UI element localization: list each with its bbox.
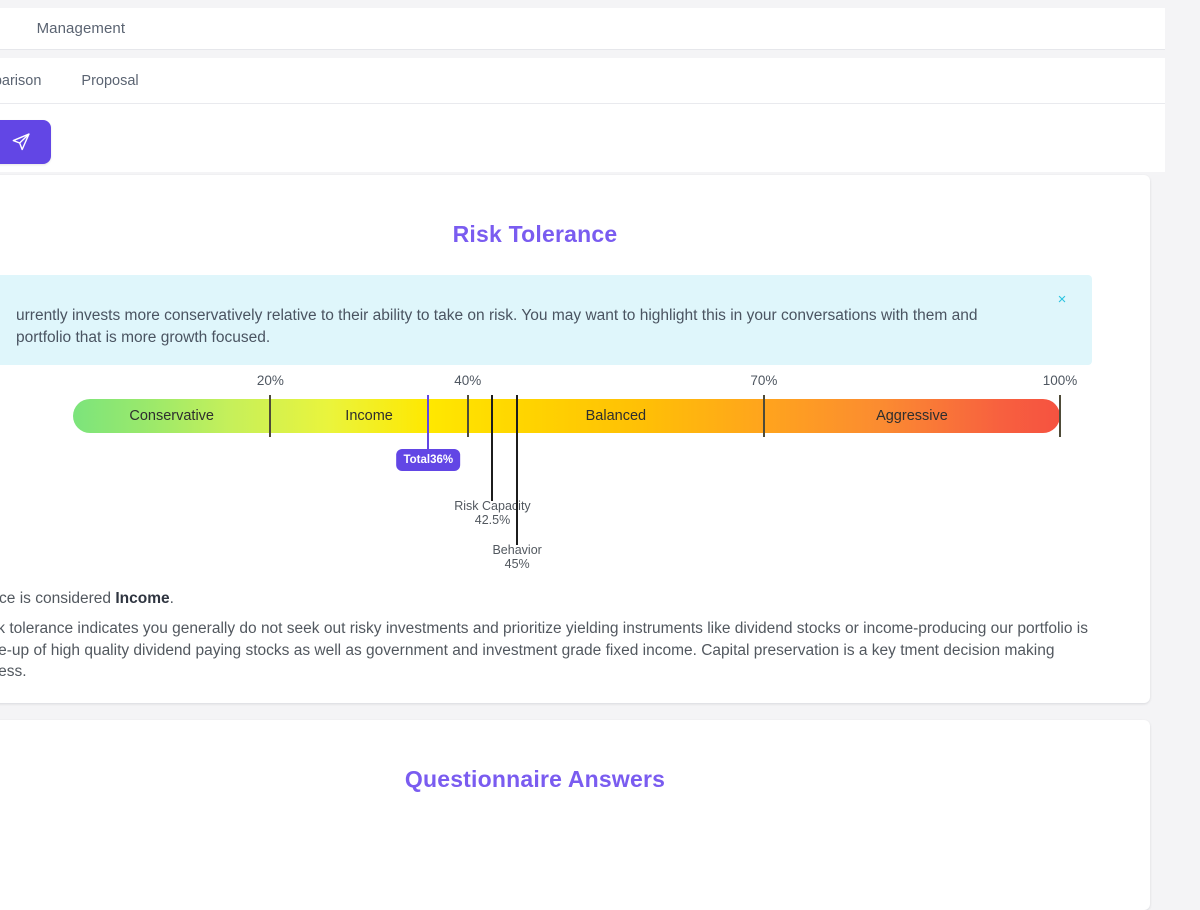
- marker-name: Behavior: [492, 543, 541, 557]
- content-column: ls Portfolios Management Portfolio Compa…: [0, 0, 1165, 800]
- gauge-gradient-bar: [73, 399, 1060, 433]
- marker-value: 45%: [492, 557, 541, 571]
- axis-tick-100: [1059, 395, 1061, 437]
- marker-pill-value: 36%: [430, 454, 453, 466]
- risk-summary-line: erance is considered Income.: [0, 588, 1092, 610]
- questionnaire-title: Questionnaire Answers: [0, 766, 1150, 793]
- risk-summary-suffix: .: [170, 590, 174, 607]
- close-icon[interactable]: ×: [1054, 292, 1070, 308]
- marker-label-risk-capacity: Risk Capacity42.5%: [454, 499, 530, 527]
- info-banner: urrently invests more conservatively rel…: [0, 275, 1092, 365]
- risk-summary-prefix: erance is considered: [0, 590, 115, 607]
- page-shell: ls Portfolios Management Portfolio Compa…: [0, 0, 1165, 800]
- ask-client-for-updates-button[interactable]: Ask Client For Updates: [0, 120, 51, 164]
- marker-name: Risk Capacity: [454, 499, 530, 513]
- marker-pill-total: Total36%: [396, 449, 460, 471]
- top-navigation: ls Portfolios Management: [0, 8, 1165, 50]
- risk-tolerance-card: Risk Tolerance urrently invests more con…: [0, 175, 1150, 703]
- axis-tick-label-20: 20%: [257, 373, 284, 388]
- marker-line-behavior: [516, 395, 518, 545]
- axis-tick-label-100: 100%: [1043, 373, 1078, 388]
- axis-tick-label-40: 40%: [454, 373, 481, 388]
- axis-tick-40: [467, 395, 469, 437]
- questionnaire-answers-card: Questionnaire Answers: [0, 720, 1150, 910]
- sub-navigation-tabs: Portfolio Comparison Proposal: [0, 58, 1165, 104]
- marker-pill-name: Total: [403, 454, 430, 466]
- marker-value: 42.5%: [454, 513, 530, 527]
- risk-description-paragraph: d risk tolerance indicates you generally…: [0, 618, 1092, 683]
- risk-tolerance-gauge: ConservativeIncomeBalancedAggressive20%4…: [0, 373, 1092, 583]
- marker-label-behavior: Behavior45%: [492, 543, 541, 571]
- page-gutter-right: [1165, 0, 1175, 800]
- send-icon: [11, 132, 31, 152]
- risk-summary-category: Income: [115, 590, 169, 607]
- tab-proposal[interactable]: Proposal: [81, 73, 138, 89]
- tab-portfolio-comparison[interactable]: Portfolio Comparison: [0, 73, 41, 89]
- page-title: Risk Tolerance: [0, 221, 1150, 248]
- action-row: Ask Client For Updates: [0, 104, 1165, 172]
- info-banner-text: urrently invests more conservatively rel…: [16, 305, 1036, 349]
- topnav-item-portfolios[interactable]: Portfolios: [0, 20, 1, 37]
- marker-line-risk-capacity: [491, 395, 493, 501]
- axis-tick-70: [763, 395, 765, 437]
- topnav-item-management[interactable]: Management: [37, 20, 126, 37]
- axis-tick-20: [269, 395, 271, 437]
- axis-tick-label-70: 70%: [750, 373, 777, 388]
